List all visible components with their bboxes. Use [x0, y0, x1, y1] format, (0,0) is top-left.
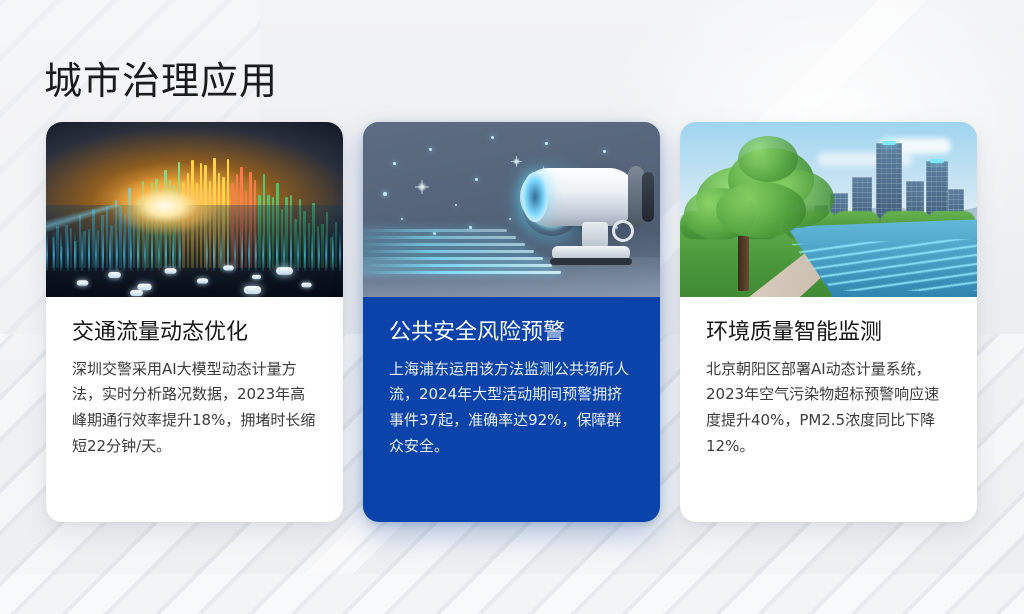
card-public-safety-body: 公共安全风险预警 上海浦东运用该方法监测公共场所人流，2024年大型活动期间预警…: [363, 297, 660, 460]
card-public-safety-description: 上海浦东运用该方法监测公共场所人流，2024年大型活动期间预警拥挤事件37起，准…: [389, 357, 636, 460]
camera-aperture-graphic: [522, 172, 548, 222]
four-point-star-icon: [511, 156, 522, 167]
card-environment-image: [680, 122, 977, 297]
card-environment-body: 环境质量智能监测 北京朝阳区部署AI动态计量系统，2023年空气污染物超标预警响…: [680, 297, 977, 460]
four-point-star-icon: [415, 180, 429, 194]
tree-trunk-graphic: [738, 235, 749, 291]
card-traffic[interactable]: 交通流量动态优化 深圳交警采用AI大模型动态计量方法，实时分析路况数据，2023…: [46, 122, 343, 522]
camera-lens-graphic: [642, 172, 654, 222]
camera-neck-graphic: [582, 222, 608, 248]
card-public-safety-title: 公共安全风险预警: [389, 319, 636, 347]
page-title: 城市治理应用: [44, 59, 278, 105]
card-environment[interactable]: 环境质量智能监测 北京朝阳区部署AI动态计量系统，2023年空气污染物超标预警响…: [680, 122, 977, 522]
card-traffic-description: 深圳交警采用AI大模型动态计量方法，实时分析路况数据，2023年高峰期通行效率提…: [72, 357, 319, 460]
card-traffic-body: 交通流量动态优化 深圳交警采用AI大模型动态计量方法，实时分析路况数据，2023…: [46, 297, 343, 460]
card-traffic-title: 交通流量动态优化: [72, 319, 319, 347]
card-public-safety[interactable]: 公共安全风险预警 上海浦东运用该方法监测公共场所人流，2024年大型活动期间预警…: [363, 122, 660, 522]
card-traffic-image: [46, 122, 343, 297]
camera-foot-graphic: [550, 258, 632, 265]
card-grid: 交通流量动态优化 深圳交警采用AI大模型动态计量方法，实时分析路况数据，2023…: [46, 122, 978, 522]
sun-core-graphic: [110, 176, 220, 236]
card-public-safety-image: [363, 122, 660, 297]
camera-knob-graphic: [612, 220, 634, 242]
left-data-wave-graphic: [46, 231, 183, 271]
card-environment-description: 北京朝阳区部署AI动态计量系统，2023年空气污染物超标预警响应速度提升40%，…: [706, 357, 953, 460]
card-environment-title: 环境质量智能监测: [706, 319, 953, 347]
